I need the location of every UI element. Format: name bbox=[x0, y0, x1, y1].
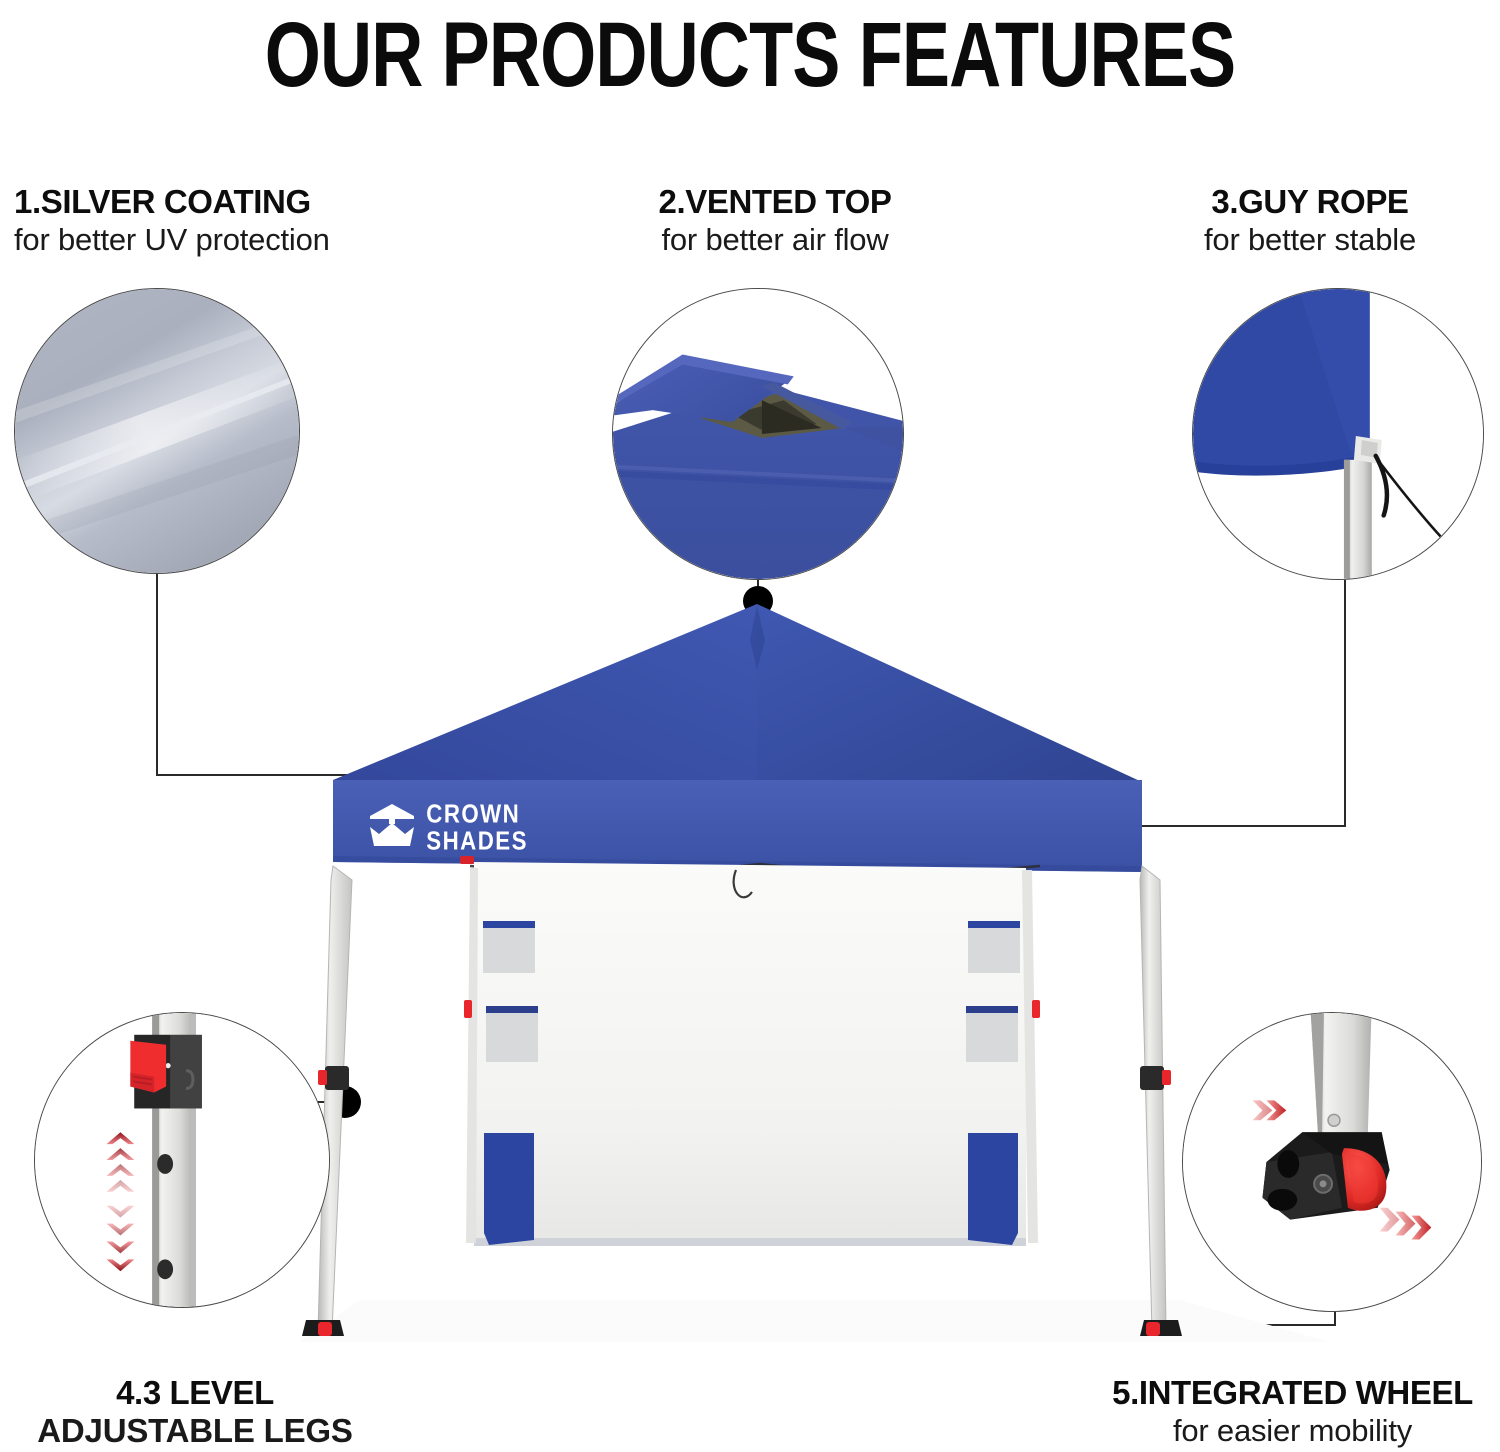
foot-right bbox=[1140, 1320, 1182, 1336]
leg-lock-right-lever bbox=[1162, 1070, 1171, 1085]
callout-guy-rope bbox=[1192, 288, 1484, 580]
leg-inner-left bbox=[466, 868, 478, 1243]
sidewall-bottom-edge bbox=[474, 1238, 1026, 1246]
logo-line-1: CROWN bbox=[426, 800, 520, 829]
leg-lock-left bbox=[325, 1066, 349, 1090]
logo-line-2: SHADES bbox=[426, 827, 528, 856]
adjustable-legs-image bbox=[35, 1013, 329, 1307]
foot-left bbox=[302, 1320, 344, 1336]
sidewall-pocket-left-bottom bbox=[486, 1006, 538, 1062]
feature-infographic: OUR PRODUCTS FEATURES 1.SILVER COATING f… bbox=[0, 0, 1500, 1452]
leg-left bbox=[318, 866, 352, 1331]
callout-integrated-wheel bbox=[1182, 1012, 1482, 1312]
sidewall-pocket-right-bottom bbox=[966, 1006, 1018, 1062]
inner-leg-lock-left bbox=[464, 1000, 472, 1018]
guy-rope-image bbox=[1193, 289, 1483, 579]
integrated-wheel-image bbox=[1183, 1013, 1481, 1311]
leg-right bbox=[1140, 866, 1166, 1331]
weight-bag-left bbox=[484, 1133, 534, 1245]
inner-leg-lock-right bbox=[1032, 1000, 1040, 1018]
callout-silver-coating bbox=[14, 288, 300, 574]
callout-vented-top bbox=[612, 288, 904, 580]
vented-top-image bbox=[613, 289, 903, 579]
silver-coating-image bbox=[15, 289, 299, 573]
leg-lock-right bbox=[1140, 1066, 1164, 1090]
canopy-roof-left bbox=[333, 604, 757, 782]
canopy-roof-right bbox=[757, 604, 1142, 782]
weight-bag-right bbox=[968, 1133, 1018, 1245]
sidewall-pocket-right-top bbox=[968, 921, 1020, 973]
sidewall-panel bbox=[474, 862, 1026, 1243]
valance-corner-tab-left bbox=[460, 856, 474, 864]
sidewall-pocket-left-top bbox=[483, 921, 535, 973]
leg-lock-left-lever bbox=[318, 1070, 327, 1085]
callout-adjustable-legs bbox=[34, 1012, 330, 1308]
